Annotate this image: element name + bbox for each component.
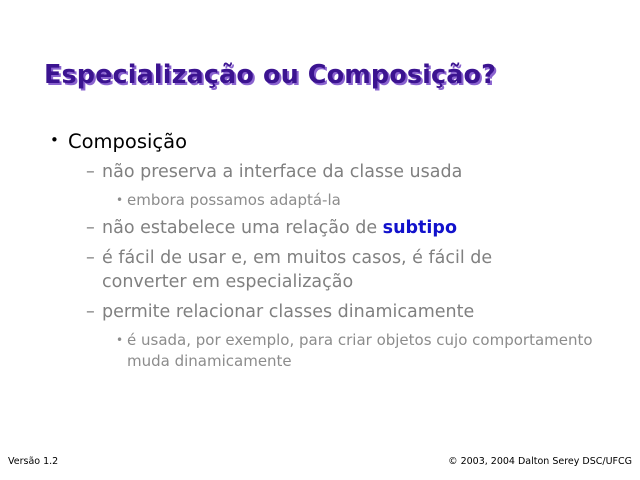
bullet-dash-icon: – bbox=[86, 300, 102, 324]
outline-item-text: embora possamos adaptá-la bbox=[127, 190, 341, 211]
slide-footer: Versão 1.2 © 2003, 2004 Dalton Serey DSC… bbox=[0, 456, 640, 474]
outline-item-level2: – não preserva a interface da classe usa… bbox=[0, 160, 640, 184]
bullet-dot-icon: • bbox=[116, 330, 127, 351]
bullet-dash-icon: – bbox=[86, 216, 102, 240]
outline-item-level3: • é usada, por exemplo, para criar objet… bbox=[0, 330, 640, 372]
presentation-slide: Especialização ou Composição? • Composiç… bbox=[0, 0, 640, 480]
outline-item-level1: • Composição bbox=[0, 128, 640, 155]
outline-item-level2: – é fácil de usar e, em muitos casos, é … bbox=[0, 246, 640, 294]
outline-item-text: é usada, por exemplo, para criar objetos… bbox=[127, 330, 593, 372]
outline-item-text: é fácil de usar e, em muitos casos, é fá… bbox=[102, 246, 572, 294]
bullet-dash-icon: – bbox=[86, 160, 102, 184]
outline-item-text: não preserva a interface da classe usada bbox=[102, 160, 462, 184]
outline-item-text: permite relacionar classes dinamicamente bbox=[102, 300, 474, 324]
footer-copyright-label: © 2003, 2004 Dalton Serey DSC/UFCG bbox=[448, 456, 632, 467]
highlighted-keyword: subtipo bbox=[383, 218, 457, 238]
bullet-dot-icon: • bbox=[50, 127, 68, 154]
footer-version-label: Versão 1.2 bbox=[8, 456, 58, 467]
outline-item-text: Composição bbox=[68, 128, 187, 155]
bullet-dot-icon: • bbox=[116, 190, 127, 211]
bullet-dash-icon: – bbox=[86, 246, 102, 270]
outline-item-level3: • embora possamos adaptá-la bbox=[0, 190, 640, 211]
outline-item-level2: – permite relacionar classes dinamicamen… bbox=[0, 300, 640, 324]
outline-item-text-before: não estabelece uma relação de bbox=[102, 218, 383, 238]
outline-item-text: não estabelece uma relação de subtipo bbox=[102, 216, 457, 240]
slide-title: Especialização ou Composição? bbox=[44, 60, 604, 90]
slide-body-outline: • Composição – não preserva a interface … bbox=[0, 128, 640, 377]
outline-item-level2: – não estabelece uma relação de subtipo bbox=[0, 216, 640, 240]
